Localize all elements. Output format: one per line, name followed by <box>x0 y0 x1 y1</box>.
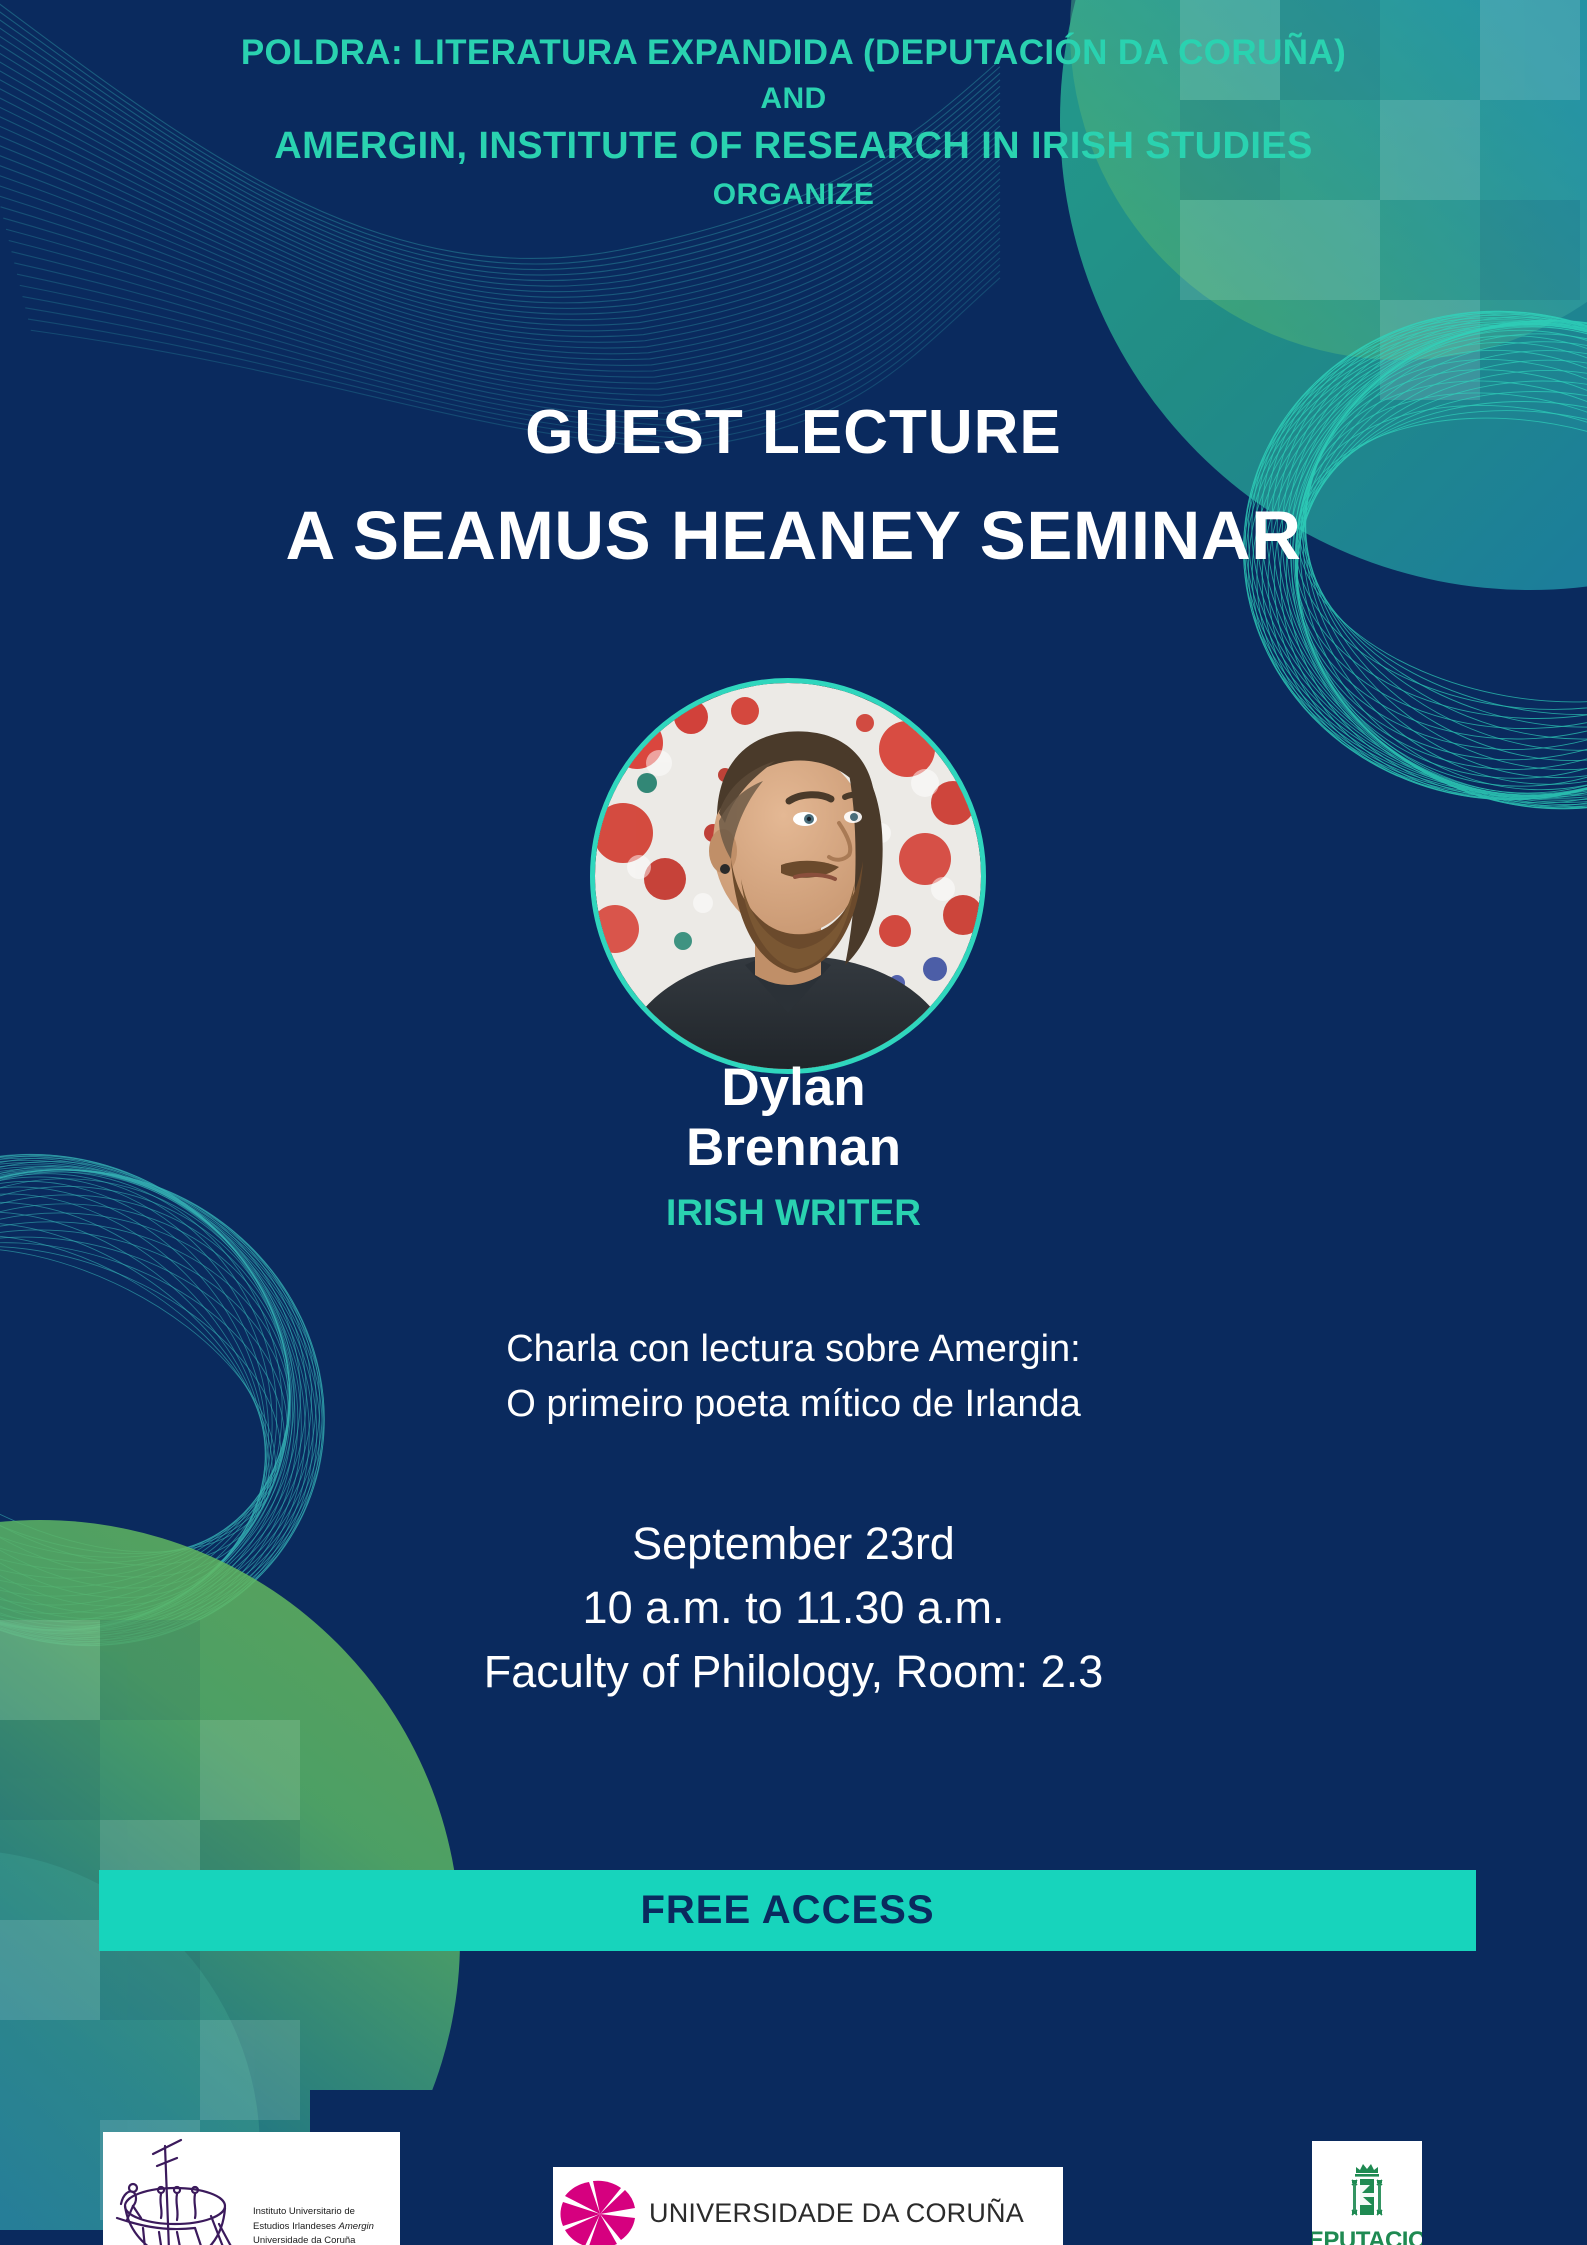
amergin-text-line-2a: Estudios Irlandeses <box>253 2221 339 2232</box>
amergin-text-line-2: Estudios Irlandeses Amergin <box>253 2220 374 2235</box>
deputacion-main-text: DEPUTACION <box>1312 2229 1422 2245</box>
amergin-institute-logo: Instituto Universitario de Estudios Irla… <box>103 2132 400 2245</box>
amergin-text-line-2b: Amergin <box>339 2221 374 2232</box>
tower-crown-crest-icon <box>1344 2161 1390 2227</box>
logo-strip: Instituto Universitario de Estudios Irla… <box>0 0 1587 2245</box>
universidade-da-coruna-logo: UNIVERSIDADE DA CORUÑA <box>553 2167 1063 2245</box>
poster-root: POLDRA: LITERATURA EXPANDIDA (DEPUTACIÓN… <box>0 0 1587 2245</box>
udc-logo-text: UNIVERSIDADE DA CORUÑA <box>649 2198 1024 2229</box>
amergin-text-line-1: Instituto Universitario de <box>253 2205 374 2220</box>
amergin-logo-text: Instituto Universitario de Estudios Irla… <box>253 2205 378 2245</box>
amergin-text-line-3: Universidade da Coruña <box>253 2234 374 2245</box>
boat-with-figures-icon <box>103 2132 253 2245</box>
deputacion-da-coruna-logo: DEPUTACION DA CORUÑA <box>1312 2141 1422 2245</box>
pinwheel-icon <box>559 2178 641 2245</box>
